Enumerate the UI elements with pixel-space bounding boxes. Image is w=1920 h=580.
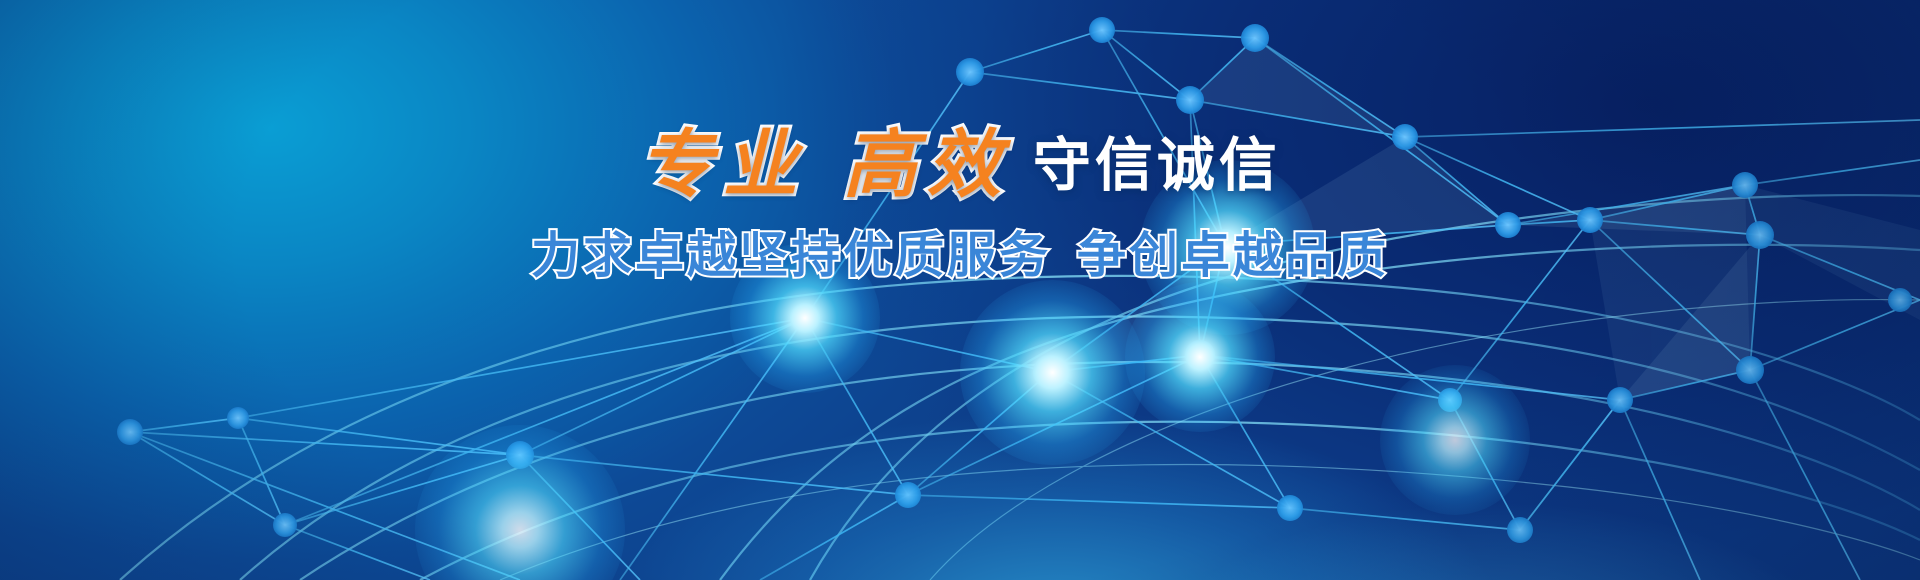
background-vignette	[0, 0, 1920, 580]
subtitle-part-one: 力求卓越坚持优质服务	[531, 227, 1051, 284]
headline-accent-text: 专业 高效	[639, 122, 1011, 208]
subtitle-part-two: 争创卓越品质	[1077, 227, 1389, 284]
promo-banner: 专业 高效守信诚信 力求卓越坚持优质服务争创卓越品质	[0, 0, 1920, 580]
headline-plain-text: 守信诚信	[1033, 131, 1281, 199]
banner-subtitle: 力求卓越坚持优质服务争创卓越品质	[0, 216, 1920, 287]
banner-headline: 专业 高效守信诚信	[639, 128, 1281, 202]
banner-text-block: 专业 高效守信诚信 力求卓越坚持优质服务争创卓越品质	[0, 128, 1920, 287]
